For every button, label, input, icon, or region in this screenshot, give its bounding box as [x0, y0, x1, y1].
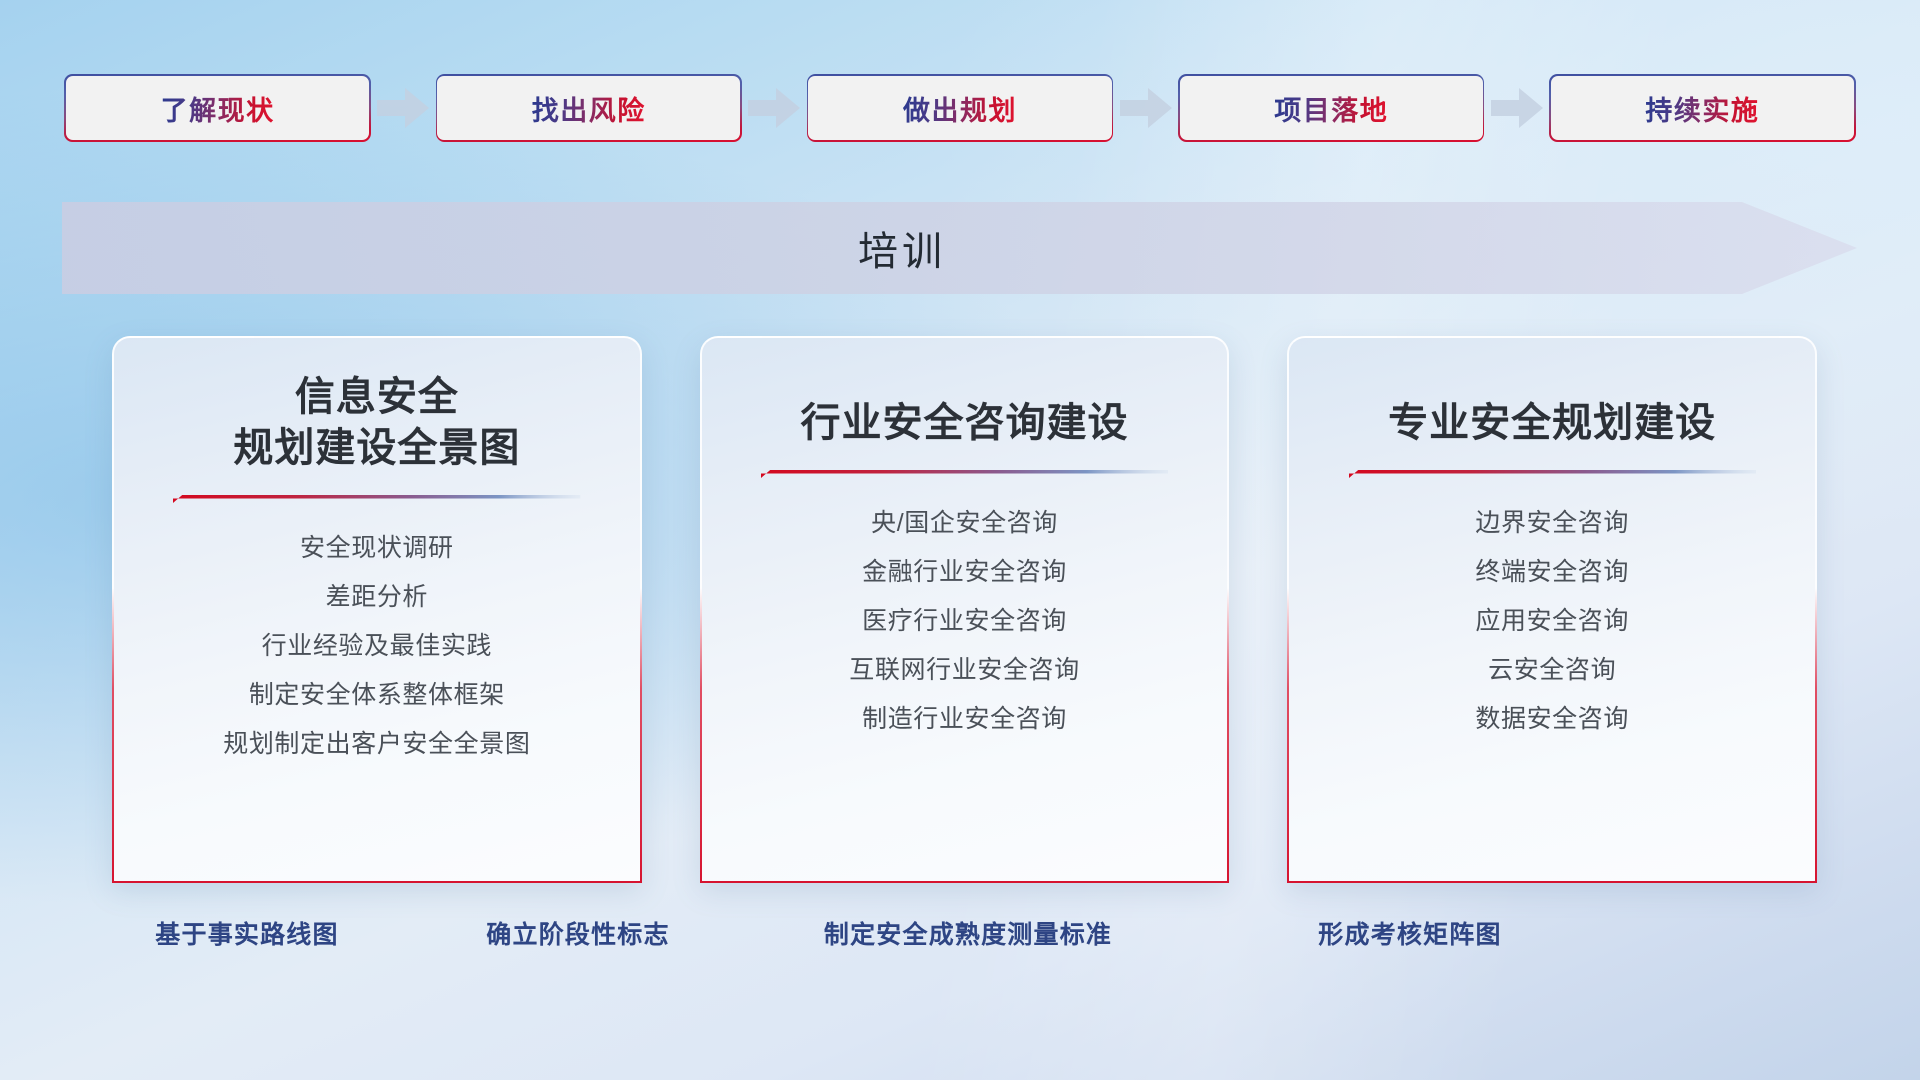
card-group: 信息安全 规划建设全景图 安全现状	[112, 336, 1817, 881]
list-item[interactable]: 差距分析	[140, 573, 614, 622]
list-item[interactable]: 边界安全咨询	[1315, 499, 1789, 548]
arrow-right-icon	[1112, 85, 1180, 131]
list-item[interactable]: 数据安全咨询	[1315, 695, 1789, 744]
card-title: 专业安全规划建设	[1315, 372, 1789, 449]
list-item[interactable]: 央/国企安全咨询	[728, 499, 1202, 548]
card-divider	[173, 492, 580, 506]
process-step-label: 了解现状	[161, 89, 275, 128]
card-item-list: 央/国企安全咨询 金融行业安全咨询 医疗行业安全咨询 互联网行业安全咨询 制造行…	[728, 499, 1202, 744]
slide-canvas: 了解现状 找出风险 做出规划 项目落地	[0, 0, 1920, 1080]
card-item-list: 边界安全咨询 终端安全咨询 应用安全咨询 云安全咨询 数据安全咨询	[1315, 499, 1789, 744]
arrow-right-icon	[369, 85, 437, 131]
card-edge-bottom	[112, 881, 642, 883]
list-item[interactable]: 规划制定出客户安全全景图	[140, 720, 614, 769]
process-step-1[interactable]: 了解现状	[66, 76, 369, 140]
list-item[interactable]: 终端安全咨询	[1315, 548, 1789, 597]
list-item[interactable]: 安全现状调研	[140, 524, 614, 573]
list-item[interactable]: 制造行业安全咨询	[728, 695, 1202, 744]
list-item[interactable]: 云安全咨询	[1315, 646, 1789, 695]
list-item[interactable]: 医疗行业安全咨询	[728, 597, 1202, 646]
list-item[interactable]: 行业经验及最佳实践	[140, 622, 614, 671]
process-step-4[interactable]: 项目落地	[1180, 76, 1483, 140]
footer-caption-2: 确立阶段性标志	[486, 915, 669, 951]
card-edge-left	[700, 588, 702, 883]
training-banner: 培训	[62, 202, 1857, 294]
card-item-list: 安全现状调研 差距分析 行业经验及最佳实践 制定安全体系整体框架 规划制定出客户…	[140, 524, 614, 769]
process-step-2[interactable]: 找出风险	[437, 76, 740, 140]
footer-caption-1: 基于事实路线图	[155, 915, 338, 951]
card-edge-right	[640, 588, 642, 883]
footer-caption-4: 形成考核矩阵图	[1318, 915, 1501, 951]
card-title: 信息安全 规划建设全景图	[140, 372, 614, 474]
card-divider	[1349, 467, 1756, 481]
card-information-security-panorama[interactable]: 信息安全 规划建设全景图 安全现状	[112, 336, 642, 881]
card-edge-left	[112, 588, 114, 883]
card-professional-security-planning[interactable]: 专业安全规划建设 边界安全咨询	[1287, 336, 1817, 881]
card-edge-left	[1287, 588, 1289, 883]
process-step-label: 持续实施	[1645, 89, 1759, 128]
process-step-label: 项目落地	[1274, 89, 1388, 128]
card-divider	[761, 467, 1168, 481]
list-item[interactable]: 应用安全咨询	[1315, 597, 1789, 646]
footer-caption-3: 制定安全成熟度测量标准	[824, 915, 1112, 951]
card-edge-right	[1815, 588, 1817, 883]
list-item[interactable]: 互联网行业安全咨询	[728, 646, 1202, 695]
card-edge-bottom	[1287, 881, 1817, 883]
process-step-label: 找出风险	[532, 89, 646, 128]
process-step-3[interactable]: 做出规划	[808, 76, 1111, 140]
process-step-label: 做出规划	[903, 89, 1017, 128]
footer-captions: 基于事实路线图 确立阶段性标志 制定安全成熟度测量标准 形成考核矩阵图	[0, 915, 1920, 961]
card-title: 行业安全咨询建设	[728, 372, 1202, 449]
process-step-bar: 了解现状 找出风险 做出规划 项目落地	[66, 76, 1854, 140]
card-edge-right	[1227, 588, 1229, 883]
card-industry-security-consulting[interactable]: 行业安全咨询建设 央/国企安全咨询	[700, 336, 1230, 881]
list-item[interactable]: 制定安全体系整体框架	[140, 671, 614, 720]
process-step-5[interactable]: 持续实施	[1551, 76, 1854, 140]
list-item[interactable]: 金融行业安全咨询	[728, 548, 1202, 597]
arrow-right-icon	[1483, 85, 1551, 131]
arrow-right-icon	[740, 85, 808, 131]
banner-label: 培训	[62, 202, 1742, 294]
card-edge-bottom	[700, 881, 1230, 883]
